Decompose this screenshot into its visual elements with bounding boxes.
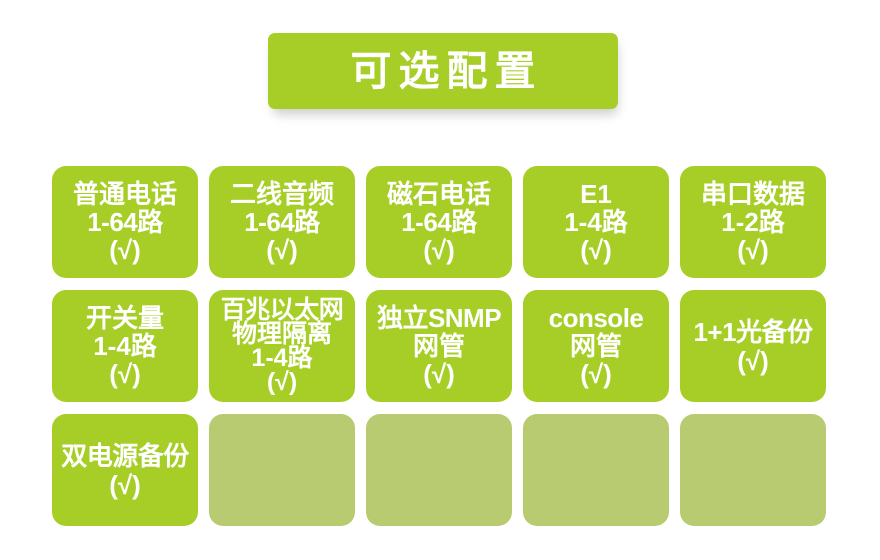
option-card-line: (√): [52, 361, 198, 387]
option-card-e1[interactable]: E11-4路(√): [523, 166, 669, 278]
option-card-line: console: [523, 305, 669, 331]
option-card-placeholder-4[interactable]: [680, 414, 826, 526]
option-card-line: 网管: [366, 333, 512, 359]
option-card-line: 二线音频: [209, 181, 355, 207]
option-card-line: 物理隔离: [209, 322, 355, 347]
option-card-line: (√): [209, 370, 355, 395]
option-card-line: 1-2路: [680, 209, 826, 235]
option-card-one-plus-one-optical-backup[interactable]: 1+1光备份(√): [680, 290, 826, 402]
option-card-placeholder-3[interactable]: [523, 414, 669, 526]
option-card-placeholder-1[interactable]: [209, 414, 355, 526]
option-card-switching-value[interactable]: 开关量1-4路(√): [52, 290, 198, 402]
option-card-placeholder-2[interactable]: [366, 414, 512, 526]
option-card-line: 开关量: [52, 305, 198, 331]
option-card-independent-snmp[interactable]: 独立SNMP网管(√): [366, 290, 512, 402]
option-card-line: (√): [366, 237, 512, 263]
option-card-text: 双电源备份(√): [52, 440, 198, 501]
option-card-line: (√): [52, 472, 198, 498]
option-card-text: 百兆以太网物理隔离1-4路(√): [209, 299, 355, 394]
option-card-line: 磁石电话: [366, 181, 512, 207]
option-card-line: (√): [209, 237, 355, 263]
option-card-serial-data[interactable]: 串口数据1-2路(√): [680, 166, 826, 278]
option-card-text: E11-4路(√): [523, 179, 669, 265]
option-card-text: 开关量1-4路(√): [52, 303, 198, 389]
option-card-line: 1-64路: [366, 209, 512, 235]
option-card-console-management[interactable]: console网管(√): [523, 290, 669, 402]
option-card-line: 1+1光备份: [680, 319, 826, 345]
option-card-line: 普通电话: [52, 181, 198, 207]
option-card-line: (√): [523, 237, 669, 263]
option-card-two-wire-audio[interactable]: 二线音频1-64路(√): [209, 166, 355, 278]
option-card-text: 独立SNMP网管(√): [366, 303, 512, 389]
option-card-text: console网管(√): [523, 303, 669, 389]
page-title: 可选配置: [344, 51, 543, 92]
option-card-line: 1-64路: [52, 209, 198, 235]
option-card-text: 1+1光备份(√): [680, 316, 826, 377]
page-title-banner: 可选配置: [268, 33, 618, 109]
option-card-line: 1-4路: [52, 333, 198, 359]
option-card-line: (√): [52, 237, 198, 263]
option-card-ordinary-telephone[interactable]: 普通电话1-64路(√): [52, 166, 198, 278]
option-card-line: 独立SNMP: [366, 305, 512, 331]
option-card-line: (√): [680, 237, 826, 263]
option-card-line: 百兆以太网: [209, 298, 355, 323]
option-card-line: 1-64路: [209, 209, 355, 235]
option-card-line: E1: [523, 181, 669, 207]
option-card-line: (√): [366, 361, 512, 387]
option-card-dual-power-backup[interactable]: 双电源备份(√): [52, 414, 198, 526]
option-card-text: 普通电话1-64路(√): [52, 179, 198, 265]
option-card-text: 二线音频1-64路(√): [209, 179, 355, 265]
option-card-line: (√): [680, 348, 826, 374]
option-card-line: 双电源备份: [52, 443, 198, 469]
option-card-line: 1-4路: [209, 346, 355, 371]
option-card-text: 串口数据1-2路(√): [680, 179, 826, 265]
option-card-line: 网管: [523, 333, 669, 359]
option-card-magneto-telephone[interactable]: 磁石电话1-64路(√): [366, 166, 512, 278]
banner-body: 可选配置: [268, 33, 618, 109]
option-card-line: 1-4路: [523, 209, 669, 235]
option-card-text: 磁石电话1-64路(√): [366, 179, 512, 265]
option-card-line: 串口数据: [680, 181, 826, 207]
option-card-fast-ethernet-isolation[interactable]: 百兆以太网物理隔离1-4路(√): [209, 290, 355, 402]
option-card-grid: 普通电话1-64路(√)二线音频1-64路(√)磁石电话1-64路(√)E11-…: [52, 166, 828, 526]
option-card-line: (√): [523, 361, 669, 387]
